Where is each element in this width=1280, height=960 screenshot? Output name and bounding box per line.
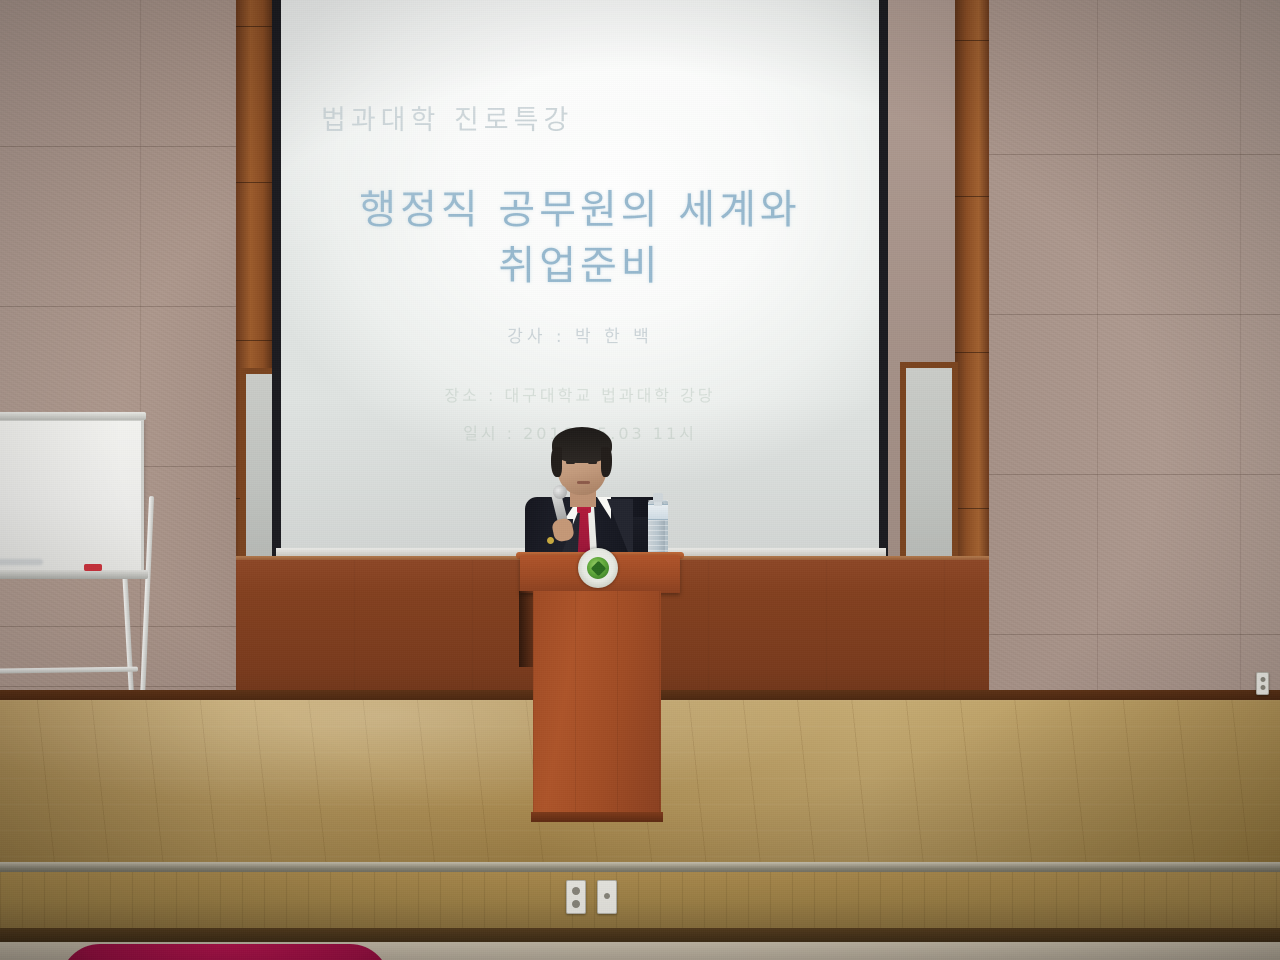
bottle-cap <box>653 493 663 502</box>
emblem-inner <box>587 557 609 579</box>
auditorium-seat <box>60 944 390 960</box>
whiteboard-marker-tray <box>0 570 148 579</box>
whiteboard-smudge <box>0 559 43 565</box>
mobile-whiteboard <box>0 418 206 730</box>
hair <box>601 447 612 477</box>
wall-texture <box>985 0 1280 700</box>
slide-venue: 장소 : 대구대학교 법과대학 강당 <box>281 382 879 406</box>
whiteboard-surface <box>0 418 144 573</box>
bottle-label <box>648 504 668 520</box>
lapel-pin <box>547 537 554 544</box>
lecture-hall-photo: 법과대학 진로특강 행정직 공무원의 세계와 취업준비 강사 : 박 한 백 장… <box>0 0 1280 960</box>
right-wall <box>985 0 1280 700</box>
slide-presenter: 강사 : 박 한 백 <box>281 322 879 347</box>
power-outlet-icon <box>597 880 617 914</box>
mouth <box>577 481 590 484</box>
power-outlet-icon <box>566 880 586 914</box>
water-bottle <box>648 490 668 558</box>
podium-body <box>533 591 661 820</box>
slide-title: 행정직 공무원의 세계와 취업준비 <box>281 182 879 294</box>
slide-title-line-1: 행정직 공무원의 세계와 <box>281 182 879 238</box>
stage-front-fascia <box>0 872 1280 930</box>
podium-foot <box>531 812 663 822</box>
power-outlet-icon <box>1256 672 1269 695</box>
wall-panel-right <box>900 362 958 580</box>
whiteboard-crossbar <box>0 667 138 675</box>
university-emblem-icon <box>578 548 618 588</box>
slide-title-line-2: 취업준비 <box>281 238 879 294</box>
emblem-leaf-shape <box>590 560 606 576</box>
slide-kicker: 법과대학 진로특강 <box>321 98 741 137</box>
hair <box>551 447 562 477</box>
whiteboard-top-rail <box>0 412 146 420</box>
red-marker <box>84 564 102 571</box>
